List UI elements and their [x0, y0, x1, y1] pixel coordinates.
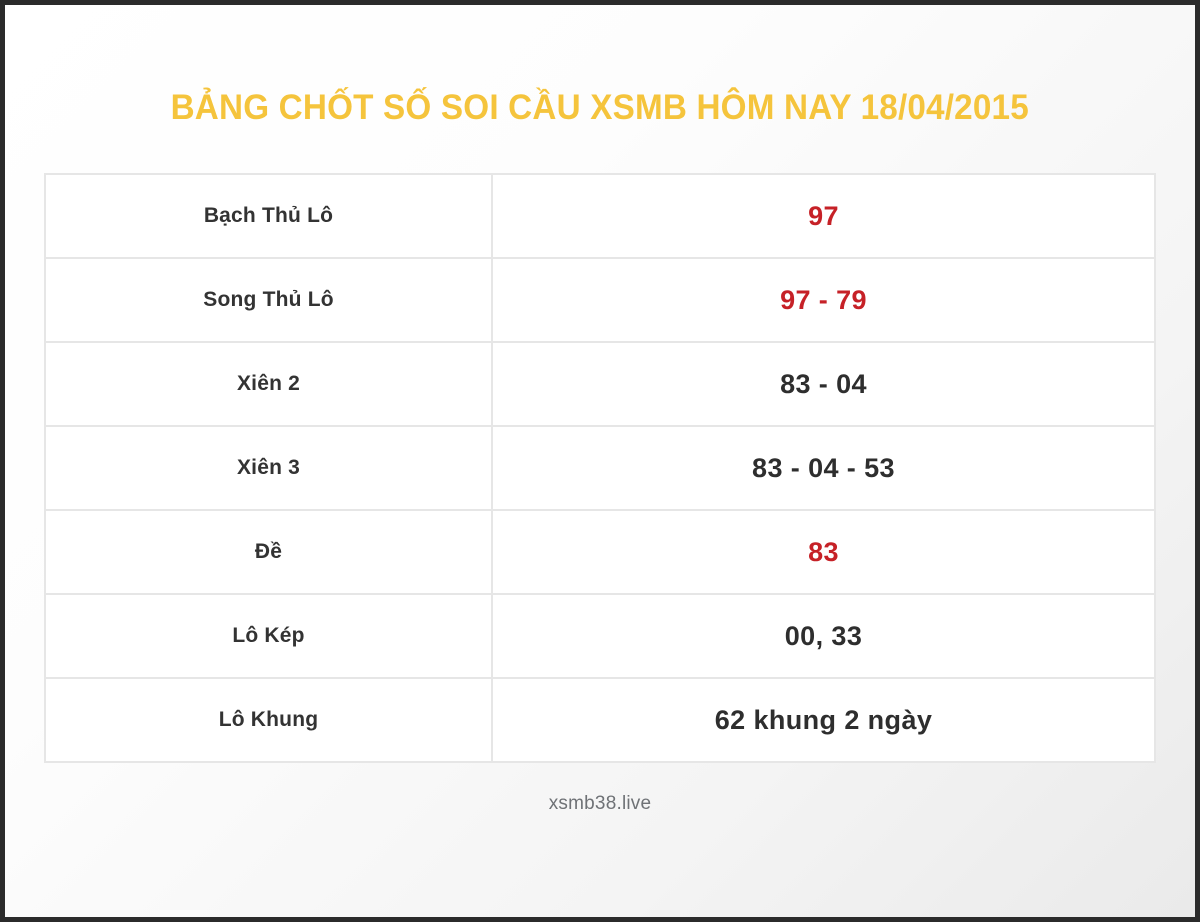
row-label: Bạch Thủ Lô: [45, 174, 492, 258]
row-value: 97 - 79: [492, 258, 1155, 342]
page-title: BẢNG CHỐT SỐ SOI CẦU XSMB HÔM NAY 18/04/…: [171, 90, 1029, 125]
table-row: Lô Kép00, 33: [45, 594, 1155, 678]
row-label: Lô Kép: [45, 594, 492, 678]
row-label: Xiên 3: [45, 426, 492, 510]
row-value: 83 - 04 - 53: [492, 426, 1155, 510]
row-label: Đề: [45, 510, 492, 594]
table-row: Xiên 383 - 04 - 53: [45, 426, 1155, 510]
row-value: 97: [492, 174, 1155, 258]
row-value: 00, 33: [492, 594, 1155, 678]
table-row: Song Thủ Lô97 - 79: [45, 258, 1155, 342]
lottery-prediction-table: Bạch Thủ Lô97Song Thủ Lô97 - 79Xiên 283 …: [44, 173, 1156, 763]
page-frame: BẢNG CHỐT SỐ SOI CẦU XSMB HÔM NAY 18/04/…: [5, 5, 1195, 917]
table-body: Bạch Thủ Lô97Song Thủ Lô97 - 79Xiên 283 …: [45, 174, 1155, 762]
table-row: Đề83: [45, 510, 1155, 594]
table-row: Xiên 283 - 04: [45, 342, 1155, 426]
row-value: 83: [492, 510, 1155, 594]
row-value: 62 khung 2 ngày: [492, 678, 1155, 762]
table-row: Lô Khung62 khung 2 ngày: [45, 678, 1155, 762]
row-label: Xiên 2: [45, 342, 492, 426]
row-label: Lô Khung: [45, 678, 492, 762]
row-label: Song Thủ Lô: [45, 258, 492, 342]
table-row: Bạch Thủ Lô97: [45, 174, 1155, 258]
site-footer: xsmb38.live: [549, 793, 652, 815]
row-value: 83 - 04: [492, 342, 1155, 426]
